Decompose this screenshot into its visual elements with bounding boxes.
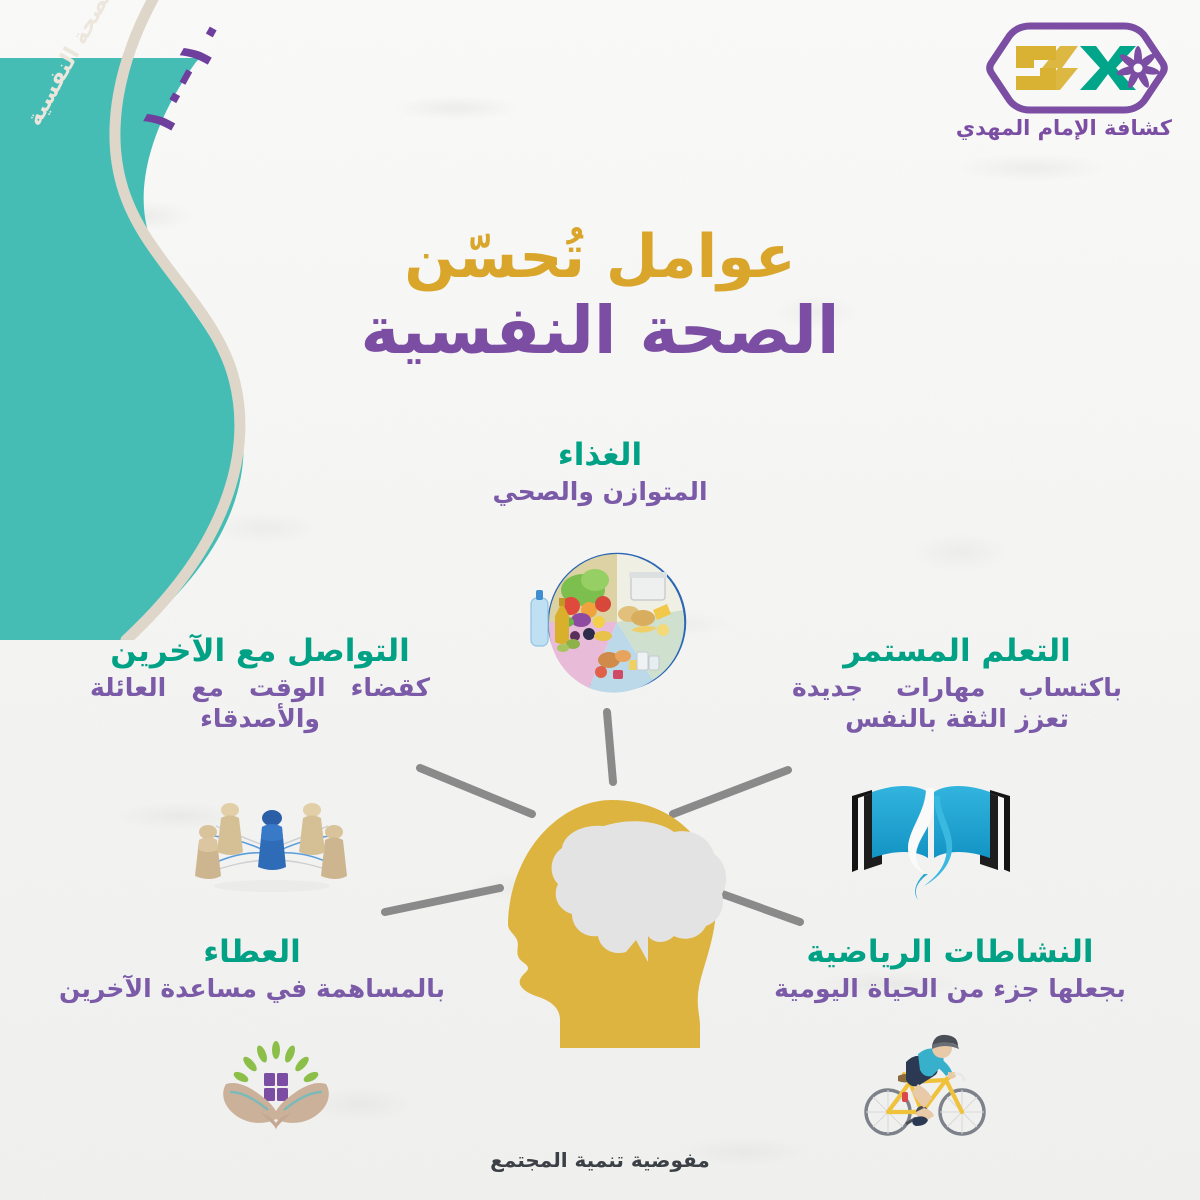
logo-caption: كشافة الإمام المهدي <box>982 116 1172 140</box>
title-line-2: الصحة النفسية <box>0 295 1200 368</box>
factor-connection-label: التواصل مع الآخرين كقضاء الوقت مع العائل… <box>90 634 430 734</box>
factor-sports-heading: النشاطات الرياضية <box>770 935 1130 971</box>
factor-learning-subtitle: باكتساب مهارات جديدة تعزز الثقة بالنفس <box>792 672 1122 735</box>
factor-sports-label: النشاطات الرياضية بجعلها جزء من الحياة ا… <box>770 935 1130 1004</box>
factor-nutrition-label: الغذاء المتوازن والصحي <box>430 438 770 507</box>
factor-nutrition-subtitle: المتوازن والصحي <box>430 476 770 507</box>
factor-giving-label: العطاء بالمساهمة في مساعدة الآخرين <box>52 935 452 1004</box>
footer-text: مفوضية تنمية المجتمع <box>0 1148 1200 1172</box>
title-line-1: عوامل تُحسّن <box>0 226 1200 289</box>
factor-learning-label: التعلم المستمر باكتساب مهارات جديدة تعزز… <box>792 634 1122 734</box>
factor-connection-heading: التواصل مع الآخرين <box>90 634 430 670</box>
scouts-emblem-icon <box>982 22 1172 114</box>
caring-hands-icon <box>212 1040 340 1140</box>
factor-learning-heading: التعلم المستمر <box>792 634 1122 670</box>
factor-nutrition-heading: الغذاء <box>430 438 770 474</box>
organization-logo[interactable]: كشافة الإمام المهدي <box>982 22 1172 140</box>
factor-sports-subtitle: بجعلها جزء من الحياة اليومية <box>770 973 1130 1004</box>
factor-connection-subtitle: كقضاء الوقت مع العائلة والأصدقاء <box>90 672 430 735</box>
title-block: عوامل تُحسّن الصحة النفسية <box>0 226 1200 368</box>
open-book-icon <box>846 782 1016 900</box>
infographic-poster: ١٠-١٠ اليوم العالمي للصحة النفسية <box>0 0 1200 1200</box>
cyclist-icon <box>862 1032 988 1140</box>
factor-giving-heading: العطاء <box>52 935 452 971</box>
healthy-food-plate-icon <box>525 548 687 700</box>
people-network-icon <box>186 782 358 898</box>
factor-giving-subtitle: بالمساهمة في مساعدة الآخرين <box>52 973 452 1004</box>
